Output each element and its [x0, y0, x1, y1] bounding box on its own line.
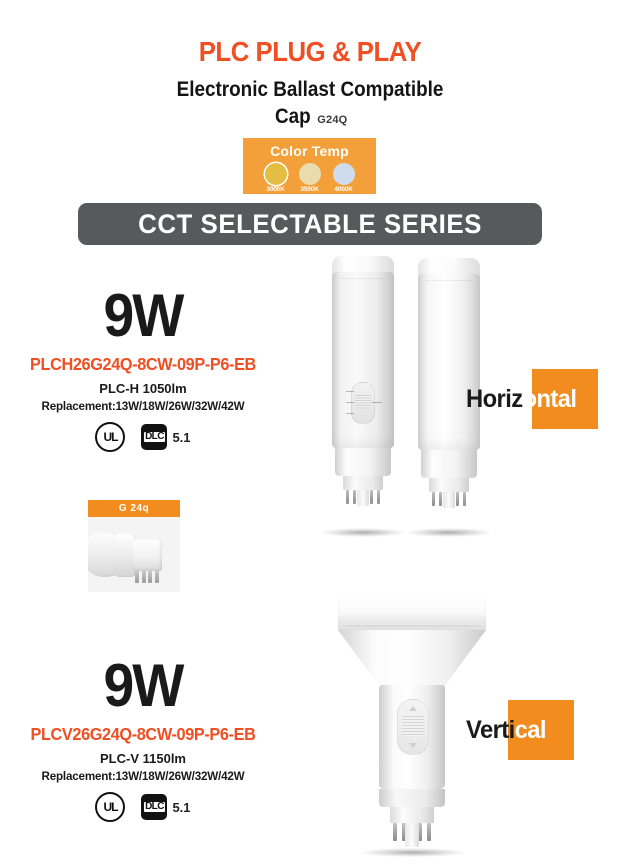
page-subtitle: Electronic Ballast Compatible	[31, 78, 589, 102]
orientation-text: Horizontal	[466, 369, 576, 429]
dlc-certification-group: DLC 5.1	[141, 794, 190, 820]
replacement-vertical: Replacement:13W/18W/26W/32W/42W	[12, 769, 274, 783]
lamp-pin	[456, 492, 459, 506]
product-info-vertical: 9W PLCV26G24Q-8CW-09P-P6-EB PLC-V 1150lm…	[8, 656, 278, 822]
g24q-inset-header: G 24q	[88, 500, 180, 517]
dlc-certification-group: DLC 5.1	[141, 424, 190, 450]
orientation-text-dark: Horiz	[466, 385, 523, 413]
g24q-base	[132, 539, 162, 571]
lamp-pin	[463, 492, 466, 506]
cap-label: Cap	[275, 105, 311, 129]
lamp-base-key	[443, 492, 455, 508]
dlc-version: 5.1	[172, 800, 190, 815]
lamp-collar	[421, 448, 477, 478]
cct-selector-switch	[351, 382, 375, 424]
switch-tick	[346, 402, 354, 403]
lamp-skirt	[379, 789, 445, 807]
orientation-text-light: cal	[515, 716, 546, 744]
ul-listed-icon: UL	[95, 422, 125, 452]
page-title: PLC PLUG & PLAY	[25, 36, 595, 68]
orientation-label-horizontal: Horizontal	[466, 369, 582, 429]
ul-mark-text: UL	[103, 431, 117, 443]
orientation-text: Vertical	[466, 700, 546, 760]
switch-slider	[355, 395, 371, 409]
lamp-pin	[377, 490, 380, 504]
dlc-version: 5.1	[172, 430, 190, 445]
dlc-mark-text: DLC	[144, 802, 165, 812]
switch-tick	[346, 391, 354, 392]
lumen-line-horizontal: PLC-H 1050lm	[8, 381, 278, 396]
lamp-shadow	[406, 528, 492, 537]
switch-arrow-up-icon	[409, 706, 417, 711]
lamp-base-key	[357, 490, 369, 506]
dlc-listed-icon: DLC	[141, 424, 167, 450]
orientation-label-vertical: Vertical	[466, 700, 550, 760]
replacement-horizontal: Replacement:13W/18W/26W/32W/42W	[12, 399, 274, 413]
dlc-mark-text: DLC	[144, 432, 165, 442]
wattage-horizontal: 9W	[19, 286, 267, 346]
switch-arrow-down-icon	[409, 743, 417, 748]
lamp-pin	[353, 490, 356, 504]
lamp-diffuser-head	[338, 596, 486, 632]
lamp-pin	[432, 492, 435, 506]
color-temp-swatch-row: 3000K 3500K 4000K	[265, 163, 355, 193]
lamp-image-horizontal-back	[332, 256, 394, 490]
color-temp-swatch-3000k[interactable]: 3000K	[265, 163, 287, 193]
ul-listed-icon: UL	[95, 792, 125, 822]
swatch-circle-icon	[265, 163, 287, 185]
g24q-inset-label: G 24q	[119, 503, 149, 514]
lamp-collar	[335, 446, 391, 476]
product-info-horizontal: 9W PLCH26G24Q-8CW-09P-P6-EB PLC-H 1050lm…	[8, 286, 278, 452]
lamp-shadow	[320, 528, 406, 537]
lamp-base	[390, 807, 434, 823]
cct-banner-text: CCT SELECTABLE SERIES	[138, 209, 482, 240]
lamp-shadow	[360, 848, 466, 857]
color-temp-title: Color Temp	[270, 143, 349, 159]
g24q-pin	[148, 571, 152, 583]
cct-selectable-banner: CCT SELECTABLE SERIES	[78, 203, 542, 245]
wattage-vertical: 9W	[19, 656, 267, 716]
lamp-base-key	[405, 823, 419, 847]
switch-slider	[402, 716, 424, 736]
g24q-pin	[135, 571, 139, 583]
g24q-pin	[155, 571, 159, 583]
switch-tick	[372, 402, 382, 403]
lamp-pin	[427, 823, 431, 841]
color-temp-badge: Color Temp 3000K 3500K 4000K	[243, 138, 376, 194]
lamp-pin	[439, 492, 442, 506]
g24q-cap-inset: G 24q	[88, 500, 180, 592]
lamp-base	[429, 478, 469, 492]
cap-line: Cap G24Q	[0, 105, 620, 129]
ul-mark-text: UL	[103, 801, 117, 813]
lamp-image-vertical	[338, 596, 486, 823]
swatch-label: 4000K	[334, 186, 352, 193]
lamp-seam-line	[342, 625, 482, 627]
swatch-label: 3500K	[300, 186, 318, 193]
lamp-seam-line	[339, 278, 387, 279]
cap-code: G24Q	[317, 114, 347, 126]
spec-sheet-page: PLC PLUG & PLAY Electronic Ballast Compa…	[0, 0, 620, 868]
g24q-pin	[142, 571, 146, 583]
lamp-seam-line	[425, 280, 473, 281]
lumen-line-vertical: PLC-V 1150lm	[8, 751, 278, 766]
lamp-pin	[370, 490, 373, 504]
cct-selector-switch	[397, 699, 429, 755]
lamp-base	[343, 476, 383, 490]
g24q-inset-photo	[88, 517, 180, 592]
lamp-tube-body	[332, 272, 394, 448]
swatch-circle-icon	[333, 163, 355, 185]
lamp-cone-body	[338, 630, 486, 686]
certifications-vertical: UL DLC 5.1	[8, 792, 278, 822]
sku-horizontal: PLCH26G24Q-8CW-09P-P6-EB	[17, 354, 268, 375]
switch-tick	[346, 413, 354, 414]
sku-vertical: PLCV26G24Q-8CW-09P-P6-EB	[17, 724, 268, 745]
swatch-circle-icon	[299, 163, 321, 185]
lamp-pin	[346, 490, 349, 504]
color-temp-swatch-4000k[interactable]: 4000K	[333, 163, 355, 193]
lamp-pin	[393, 823, 397, 841]
orientation-text-light: ontal	[523, 385, 577, 413]
lamp-main-body	[379, 685, 445, 789]
orientation-text-dark: Verti	[466, 716, 515, 744]
swatch-label: 3000K	[266, 186, 284, 193]
certifications-horizontal: UL DLC 5.1	[8, 422, 278, 452]
dlc-listed-icon: DLC	[141, 794, 167, 820]
color-temp-swatch-3500k[interactable]: 3500K	[299, 163, 321, 193]
